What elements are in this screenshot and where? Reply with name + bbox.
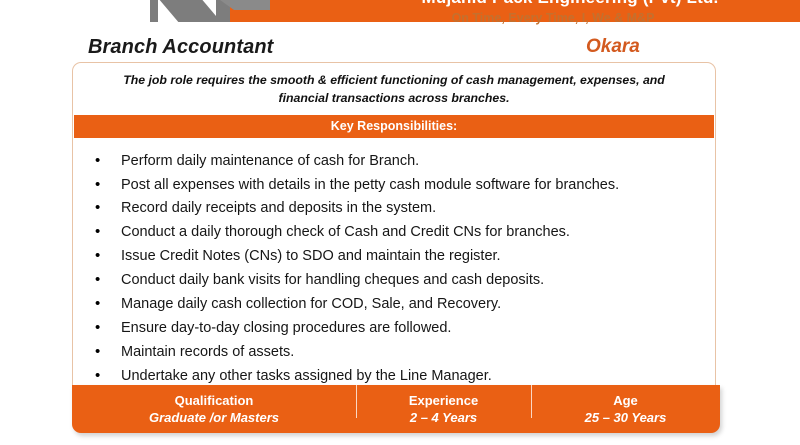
footer-value: 25 – 30 Years bbox=[535, 409, 716, 426]
key-responsibilities-heading: Key Responsibilities: bbox=[74, 115, 714, 138]
page-title: Branch Accountant bbox=[88, 36, 273, 59]
list-item: • Ensure day-to-day closing procedures a… bbox=[73, 317, 715, 340]
list-item: • Conduct daily bank visits for handling… bbox=[73, 269, 715, 292]
footer-label: Age bbox=[535, 392, 716, 409]
job-details-card: The job role requires the smooth & effic… bbox=[72, 62, 716, 385]
responsibility-text: Record daily receipts and deposits in th… bbox=[121, 197, 436, 220]
bullet-icon: • bbox=[91, 248, 121, 263]
bullet-icon: • bbox=[91, 200, 121, 215]
footer-value: 2 – 4 Years bbox=[360, 409, 527, 426]
bullet-icon: • bbox=[91, 153, 121, 168]
list-item: • Maintain records of assets. bbox=[73, 341, 715, 364]
bullet-icon: • bbox=[91, 272, 121, 287]
responsibility-text: Maintain records of assets. bbox=[121, 341, 294, 364]
footer-column-experience: Experience 2 – 4 Years bbox=[356, 392, 531, 426]
mp-logo-icon bbox=[150, 0, 270, 22]
responsibility-text: Issue Credit Notes (CNs) to SDO and main… bbox=[121, 245, 501, 268]
responsibility-text: Conduct daily bank visits for handling c… bbox=[121, 269, 544, 292]
responsibility-text: Post all expenses with details in the pe… bbox=[121, 174, 619, 197]
bullet-icon: • bbox=[91, 344, 121, 359]
footer-label: Experience bbox=[360, 392, 527, 409]
footer-column-age: Age 25 – 30 Years bbox=[531, 392, 720, 426]
bullet-icon: • bbox=[91, 320, 121, 335]
job-summary: The job role requires the smooth & effic… bbox=[73, 63, 715, 115]
bullet-icon: • bbox=[91, 296, 121, 311]
footer-label: Qualification bbox=[76, 392, 352, 409]
company-name-cut: Mujahid Pack Engineering (Pvt) Ltd. bbox=[400, 0, 740, 8]
list-item: • Perform daily maintenance of cash for … bbox=[73, 150, 715, 173]
responsibilities-list: • Perform daily maintenance of cash for … bbox=[73, 138, 715, 388]
list-item: • Conduct a daily thorough check of Cash… bbox=[73, 221, 715, 244]
responsibility-text: Manage daily cash collection for COD, Sa… bbox=[121, 293, 501, 316]
responsibility-text: Perform daily maintenance of cash for Br… bbox=[121, 150, 419, 173]
requirements-footer: Qualification Graduate /or Masters Exper… bbox=[72, 385, 720, 433]
footer-column-qualification: Qualification Graduate /or Masters bbox=[72, 392, 356, 426]
bullet-icon: • bbox=[91, 224, 121, 239]
bullet-icon: • bbox=[91, 368, 121, 383]
bullet-icon: • bbox=[91, 177, 121, 192]
footer-value: Graduate /or Masters bbox=[76, 409, 352, 426]
responsibility-text: Ensure day-to-day closing procedures are… bbox=[121, 317, 451, 340]
list-item: • Issue Credit Notes (CNs) to SDO and ma… bbox=[73, 245, 715, 268]
list-item: • Record daily receipts and deposits in … bbox=[73, 197, 715, 220]
list-item: • Post all expenses with details in the … bbox=[73, 174, 715, 197]
company-tagline: On Time, Every Time, I, We & M&P bbox=[413, 11, 693, 25]
responsibility-text: Conduct a daily thorough check of Cash a… bbox=[121, 221, 570, 244]
list-item: • Manage daily cash collection for COD, … bbox=[73, 293, 715, 316]
job-location: Okara bbox=[586, 36, 640, 58]
